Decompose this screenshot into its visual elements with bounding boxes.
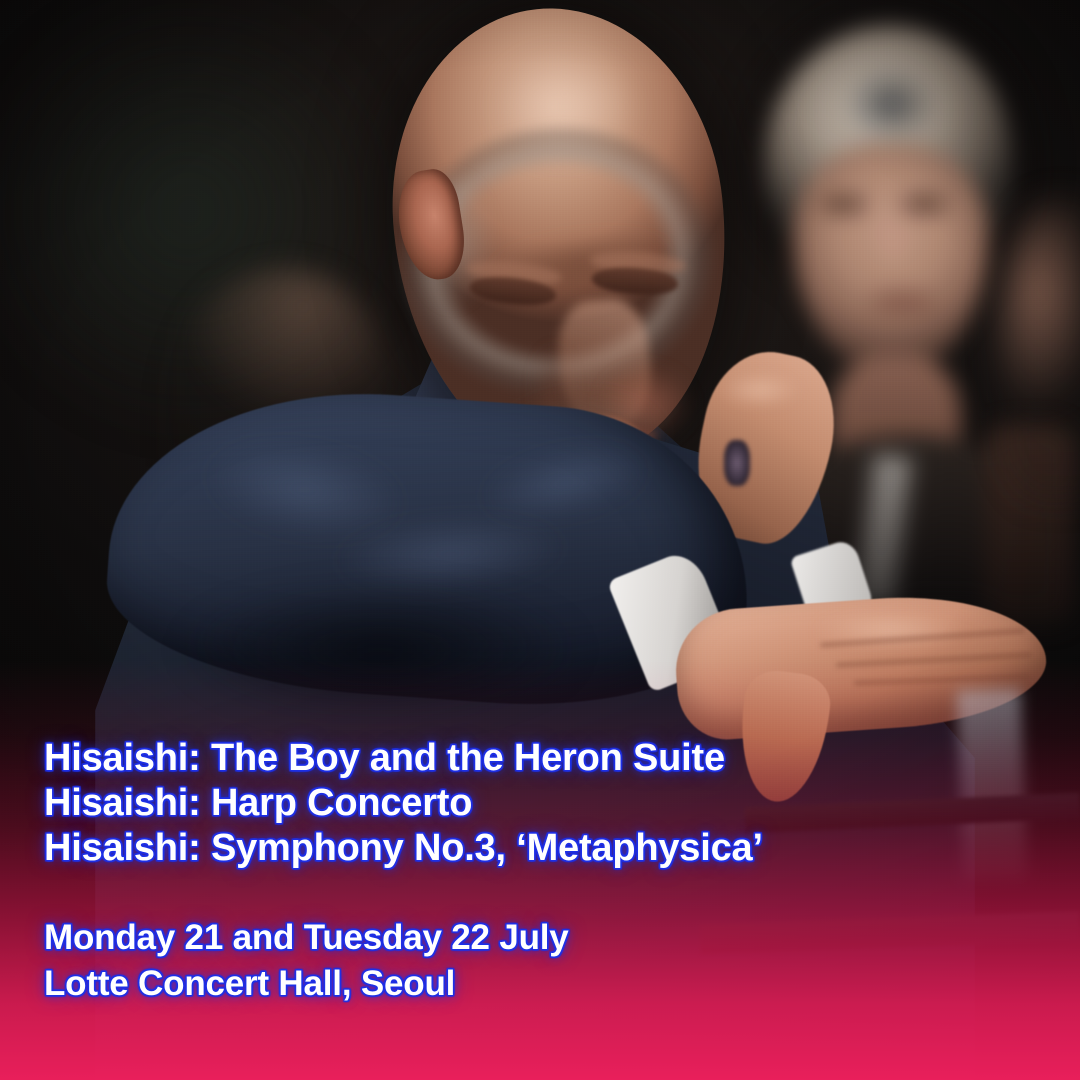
event-details: Monday 21 and Tuesday 22 July Lotte Conc… — [44, 915, 1034, 1007]
programme-line-2: Hisaishi: Harp Concerto — [44, 781, 1034, 826]
programme-line-3: Hisaishi: Symphony No.3, ‘Metaphysica’ — [44, 826, 1034, 871]
event-venue: Lotte Concert Hall, Seoul — [44, 961, 1034, 1007]
conductor-baton — [724, 440, 750, 486]
poster-text-block: Hisaishi: The Boy and the Heron Suite Hi… — [44, 736, 1034, 1007]
programme-line-1: Hisaishi: The Boy and the Heron Suite — [44, 736, 1034, 781]
programme-list: Hisaishi: The Boy and the Heron Suite Hi… — [44, 736, 1034, 871]
conductor-sleeve-shadow — [120, 560, 640, 740]
concert-poster: Hisaishi: The Boy and the Heron Suite Hi… — [0, 0, 1080, 1080]
event-dates: Monday 21 and Tuesday 22 July — [44, 915, 1034, 961]
conductor-hand-raised-knuckles — [706, 366, 814, 414]
